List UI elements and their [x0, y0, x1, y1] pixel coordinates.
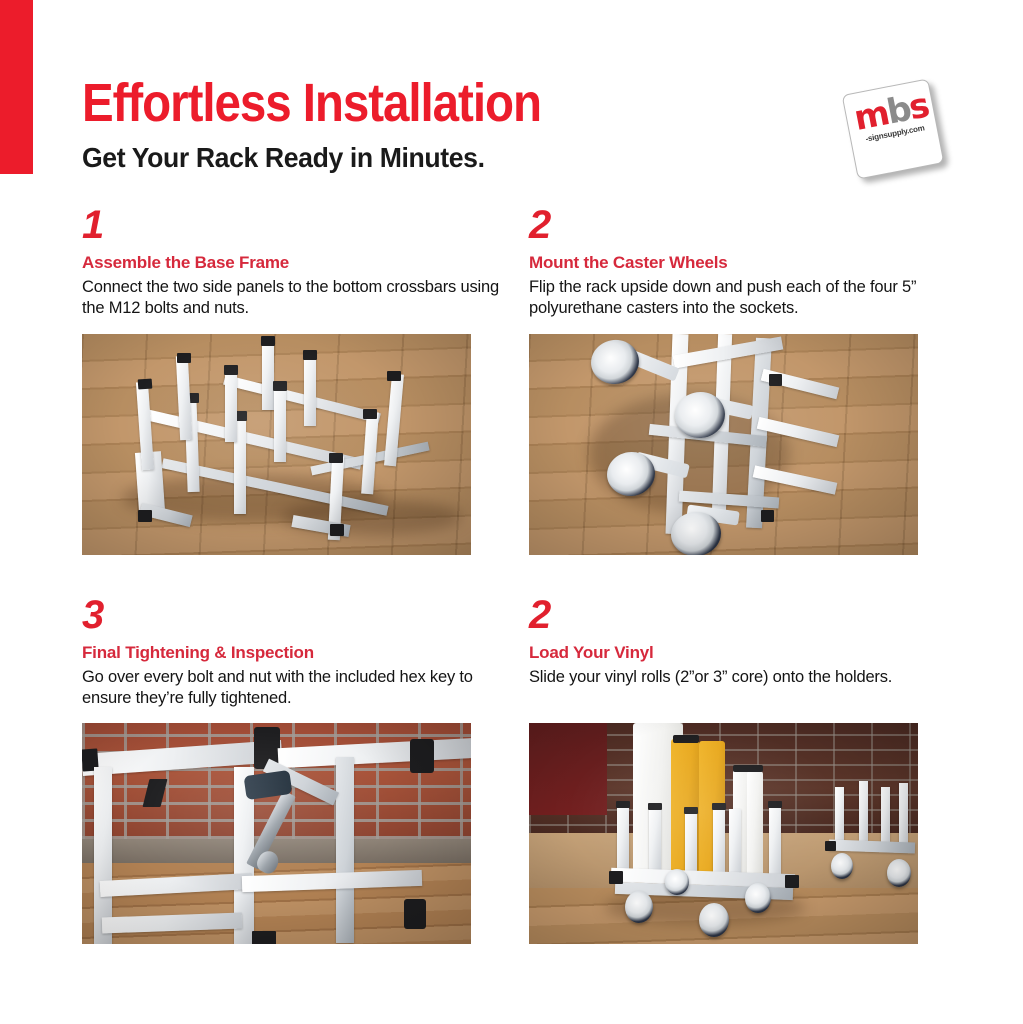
post-end-cap	[261, 336, 275, 346]
caster-wheel	[665, 869, 689, 895]
roll-core-cap	[733, 765, 763, 772]
frame-post	[304, 352, 316, 426]
step-4-title: Load Your Vinyl	[529, 644, 959, 663]
deck-end-cap	[825, 841, 836, 851]
step-4-photo	[529, 723, 918, 944]
vinyl-peg	[729, 809, 741, 877]
step-2-title: Mount the Caster Wheels	[529, 254, 959, 273]
rail-end-cap	[410, 739, 434, 773]
post-end-cap	[224, 365, 238, 375]
rail-end-cap	[252, 931, 276, 944]
peg-end-cap	[616, 801, 630, 808]
vinyl-peg	[859, 781, 868, 843]
frame-post	[225, 368, 237, 442]
frame-post	[262, 338, 274, 410]
step-3-photo	[82, 723, 471, 944]
frame-post	[274, 384, 286, 462]
caster-wheel	[831, 853, 853, 879]
step-2-photo	[529, 334, 918, 555]
step-1-title: Assemble the Base Frame	[82, 254, 512, 273]
post-end-cap	[303, 350, 317, 360]
vinyl-peg	[617, 803, 629, 875]
step-3: 3 Final Tightening & Inspection Go over …	[82, 596, 512, 709]
vinyl-peg	[649, 805, 661, 875]
rail-end-cap	[404, 899, 426, 929]
step-1-number: 1	[82, 206, 512, 248]
post-end-cap	[177, 353, 191, 363]
caster-wheel	[625, 891, 653, 923]
vinyl-peg	[835, 787, 844, 845]
vinyl-peg	[769, 803, 781, 875]
post-end-cap	[273, 381, 287, 391]
page-subtitle: Get Your Rack Ready in Minutes.	[82, 144, 485, 172]
step-3-number: 3	[82, 596, 512, 638]
peg-end-cap	[712, 803, 726, 810]
step-2: 2 Mount the Caster Wheels Flip the rack …	[529, 206, 959, 319]
peg-end-cap	[648, 803, 662, 810]
caster-wheel	[887, 859, 911, 887]
frame-upright	[336, 757, 354, 943]
peg-end-cap	[768, 801, 782, 808]
step-3-description: Go over every bolt and nut with the incl…	[82, 667, 512, 709]
red-accent-bar	[0, 0, 33, 174]
step-1-photo	[82, 334, 471, 555]
foot-end-cap	[330, 524, 344, 536]
vinyl-peg	[685, 809, 697, 875]
post-end-cap	[363, 409, 377, 419]
caster-wheel	[745, 883, 771, 913]
step-2-number: 2	[529, 206, 959, 248]
page-title: Effortless Installation	[82, 76, 541, 130]
step-1: 1 Assemble the Base Frame Connect the tw…	[82, 206, 512, 319]
step-3-title: Final Tightening & Inspection	[82, 644, 512, 663]
vinyl-peg	[881, 787, 890, 845]
vinyl-peg	[899, 783, 908, 843]
deck-end-cap	[609, 871, 623, 884]
post-end-cap	[387, 371, 401, 381]
frame-end-cap	[769, 374, 782, 386]
red-wall-panel	[529, 723, 607, 815]
roll-core-cap	[673, 735, 699, 743]
vinyl-roll	[747, 771, 763, 879]
step-4-number: 2	[529, 596, 959, 638]
post-end-cap	[329, 453, 343, 463]
caster-wheel	[699, 903, 729, 937]
vinyl-peg	[713, 805, 725, 875]
foot-end-cap	[138, 510, 152, 522]
step-1-description: Connect the two side panels to the botto…	[82, 277, 512, 319]
step-2-description: Flip the rack upside down and push each …	[529, 277, 959, 319]
step-4: 2 Load Your Vinyl Slide your vinyl rolls…	[529, 596, 959, 688]
deck-end-cap	[785, 875, 799, 888]
brand-logo: mbs -signsupply.com	[843, 82, 947, 178]
peg-end-cap	[684, 807, 698, 814]
post-end-cap	[138, 379, 153, 390]
step-4-description: Slide your vinyl rolls (2”or 3” core) on…	[529, 667, 959, 688]
frame-end-cap	[761, 510, 774, 522]
installation-guide-page: Effortless Installation Get Your Rack Re…	[0, 0, 1023, 1024]
